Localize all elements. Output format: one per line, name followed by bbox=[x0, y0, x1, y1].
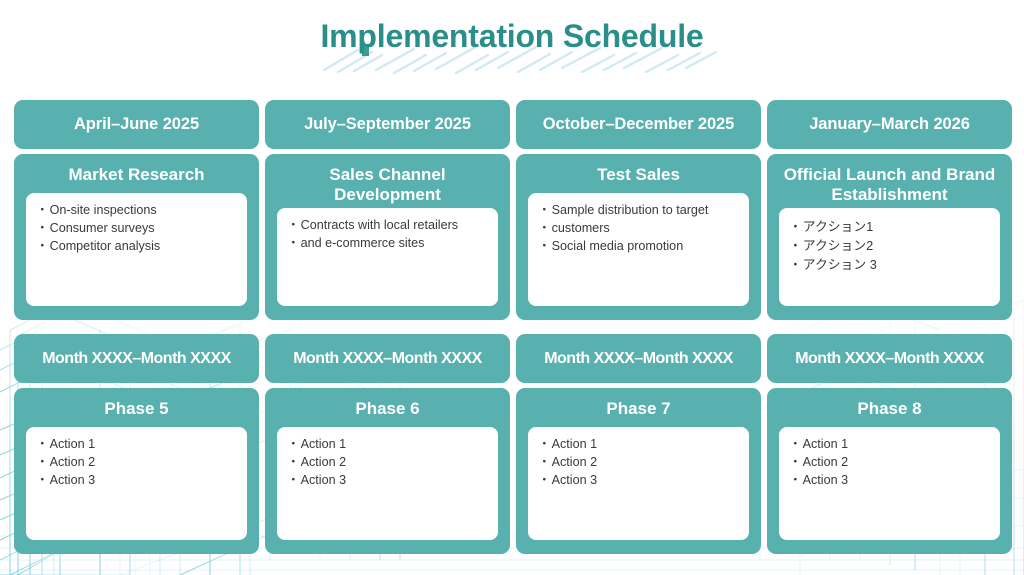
schedule-column-7: Month XXXX–Month XXXX Phase 7 Action 1 A… bbox=[516, 334, 761, 554]
action-list-2: Contracts with local retailers and e-com… bbox=[287, 217, 488, 253]
phase-card-6[interactable]: Phase 6 Action 1 Action 2 Action 3 bbox=[265, 388, 510, 554]
action-list-5: Action 1 Action 2 Action 3 bbox=[36, 436, 237, 490]
period-bar-2[interactable]: July–September 2025 bbox=[265, 100, 510, 149]
action-item: Action 1 bbox=[36, 436, 237, 454]
action-item-continuation: and e-commerce sites bbox=[287, 235, 488, 253]
schedule-column-1: April–June 2025 Market Research On-site … bbox=[14, 100, 259, 320]
phase-title-7: Phase 7 bbox=[528, 398, 749, 420]
action-item: Action 3 bbox=[287, 472, 488, 490]
action-item-continuation: customers bbox=[538, 220, 739, 238]
action-item: Action 3 bbox=[36, 472, 237, 490]
period-bar-1[interactable]: April–June 2025 bbox=[14, 100, 259, 149]
action-item: アクション 3 bbox=[789, 255, 990, 274]
phase-title-3: Test Sales bbox=[528, 164, 749, 186]
action-item: Consumer surveys bbox=[36, 220, 237, 238]
action-list-8: Action 1 Action 2 Action 3 bbox=[789, 436, 990, 490]
action-item: Action 2 bbox=[538, 454, 739, 472]
period-bar-4[interactable]: January–March 2026 bbox=[767, 100, 1012, 149]
action-item: Action 2 bbox=[36, 454, 237, 472]
action-box-1[interactable]: On-site inspections Consumer surveys Com… bbox=[26, 193, 247, 306]
schedule-column-5: Month XXXX–Month XXXX Phase 5 Action 1 A… bbox=[14, 334, 259, 554]
action-list-6: Action 1 Action 2 Action 3 bbox=[287, 436, 488, 490]
action-list-1: On-site inspections Consumer surveys Com… bbox=[36, 202, 237, 256]
action-box-2[interactable]: Contracts with local retailers and e-com… bbox=[277, 208, 498, 306]
action-box-5[interactable]: Action 1 Action 2 Action 3 bbox=[26, 427, 247, 540]
action-item: Action 1 bbox=[789, 436, 990, 454]
action-item: Social media promotion bbox=[538, 238, 739, 256]
schedule-column-2: July–September 2025 Sales Channel Develo… bbox=[265, 100, 510, 320]
action-list-3: Sample distribution to target customers … bbox=[538, 202, 739, 256]
schedule-column-4: January–March 2026 Official Launch and B… bbox=[767, 100, 1012, 320]
action-item: Action 1 bbox=[538, 436, 739, 454]
phase-card-5[interactable]: Phase 5 Action 1 Action 2 Action 3 bbox=[14, 388, 259, 554]
action-item: Sample distribution to target bbox=[538, 202, 739, 220]
schedule-column-6: Month XXXX–Month XXXX Phase 6 Action 1 A… bbox=[265, 334, 510, 554]
period-bar-8[interactable]: Month XXXX–Month XXXX bbox=[767, 334, 1012, 383]
phase-title-5: Phase 5 bbox=[26, 398, 247, 420]
action-item: Contracts with local retailers bbox=[287, 217, 488, 235]
period-bar-6[interactable]: Month XXXX–Month XXXX bbox=[265, 334, 510, 383]
phase-title-8: Phase 8 bbox=[779, 398, 1000, 420]
action-item: Action 2 bbox=[287, 454, 488, 472]
action-box-8[interactable]: Action 1 Action 2 Action 3 bbox=[779, 427, 1000, 540]
phase-card-7[interactable]: Phase 7 Action 1 Action 2 Action 3 bbox=[516, 388, 761, 554]
action-item: アクション1 bbox=[789, 217, 990, 236]
phase-card-3[interactable]: Test Sales Sample distribution to target… bbox=[516, 154, 761, 320]
action-item: Action 2 bbox=[789, 454, 990, 472]
phase-title-1: Market Research bbox=[26, 164, 247, 186]
schedule-column-3: October–December 2025 Test Sales Sample … bbox=[516, 100, 761, 320]
action-item: Action 1 bbox=[287, 436, 488, 454]
action-item: Action 3 bbox=[538, 472, 739, 490]
action-box-6[interactable]: Action 1 Action 2 Action 3 bbox=[277, 427, 498, 540]
action-item: On-site inspections bbox=[36, 202, 237, 220]
phase-card-1[interactable]: Market Research On-site inspections Cons… bbox=[14, 154, 259, 320]
phase-title-4: Official Launch and Brand Establishment bbox=[779, 164, 1000, 206]
period-bar-3[interactable]: October–December 2025 bbox=[516, 100, 761, 149]
phase-title-6: Phase 6 bbox=[277, 398, 498, 420]
phase-card-8[interactable]: Phase 8 Action 1 Action 2 Action 3 bbox=[767, 388, 1012, 554]
phase-card-2[interactable]: Sales Channel Development Contracts with… bbox=[265, 154, 510, 320]
action-list-7: Action 1 Action 2 Action 3 bbox=[538, 436, 739, 490]
action-item: アクション2 bbox=[789, 236, 990, 255]
action-item: Competitor analysis bbox=[36, 238, 237, 256]
schedule-grid: April–June 2025 Market Research On-site … bbox=[0, 0, 1024, 575]
action-list-4: アクション1 アクション2 アクション 3 bbox=[789, 217, 990, 275]
period-bar-5[interactable]: Month XXXX–Month XXXX bbox=[14, 334, 259, 383]
action-box-4[interactable]: アクション1 アクション2 アクション 3 bbox=[779, 208, 1000, 306]
phase-title-2: Sales Channel Development bbox=[277, 164, 498, 206]
schedule-column-8: Month XXXX–Month XXXX Phase 8 Action 1 A… bbox=[767, 334, 1012, 554]
period-bar-7[interactable]: Month XXXX–Month XXXX bbox=[516, 334, 761, 383]
phase-card-4[interactable]: Official Launch and Brand Establishment … bbox=[767, 154, 1012, 320]
action-item: Action 3 bbox=[789, 472, 990, 490]
action-box-3[interactable]: Sample distribution to target customers … bbox=[528, 193, 749, 306]
action-box-7[interactable]: Action 1 Action 2 Action 3 bbox=[528, 427, 749, 540]
